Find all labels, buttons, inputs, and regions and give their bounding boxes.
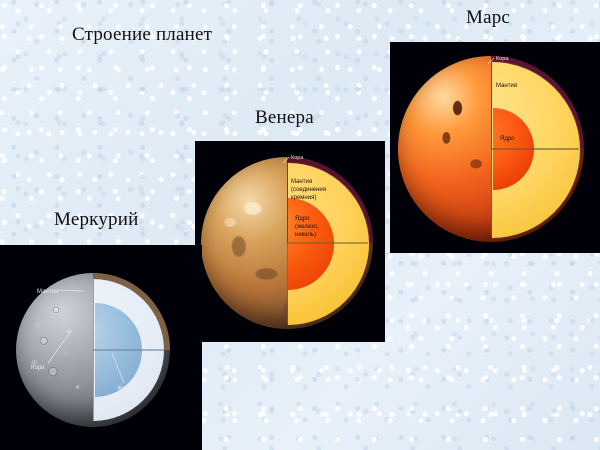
mercury-leader-lines — [0, 245, 202, 450]
planet-image-mars: Кора Мантия Ядро — [390, 42, 600, 253]
planet-image-mercury: Мантия Кора Железное ядро — [0, 245, 202, 450]
venus-stage: Кора Мантия (соединения кремния) Ядро (ж… — [195, 141, 385, 342]
planet-caption-mercury: Меркурий — [54, 209, 138, 231]
presentation-slide: Строение планет Марс Кора Мантия Ядро Ве… — [0, 0, 600, 450]
planet-caption-venus: Венера — [255, 107, 314, 129]
page-title: Строение планет — [72, 24, 212, 46]
planet-image-venus: Кора Мантия (соединения кремния) Ядро (ж… — [195, 141, 385, 342]
planet-caption-mars: Марс — [466, 7, 510, 29]
mars-leader-lines — [390, 42, 600, 253]
venus-leader-lines — [195, 141, 385, 342]
mercury-stage: Мантия Кора Железное ядро — [0, 245, 202, 450]
mars-stage: Кора Мантия Ядро — [390, 42, 600, 253]
